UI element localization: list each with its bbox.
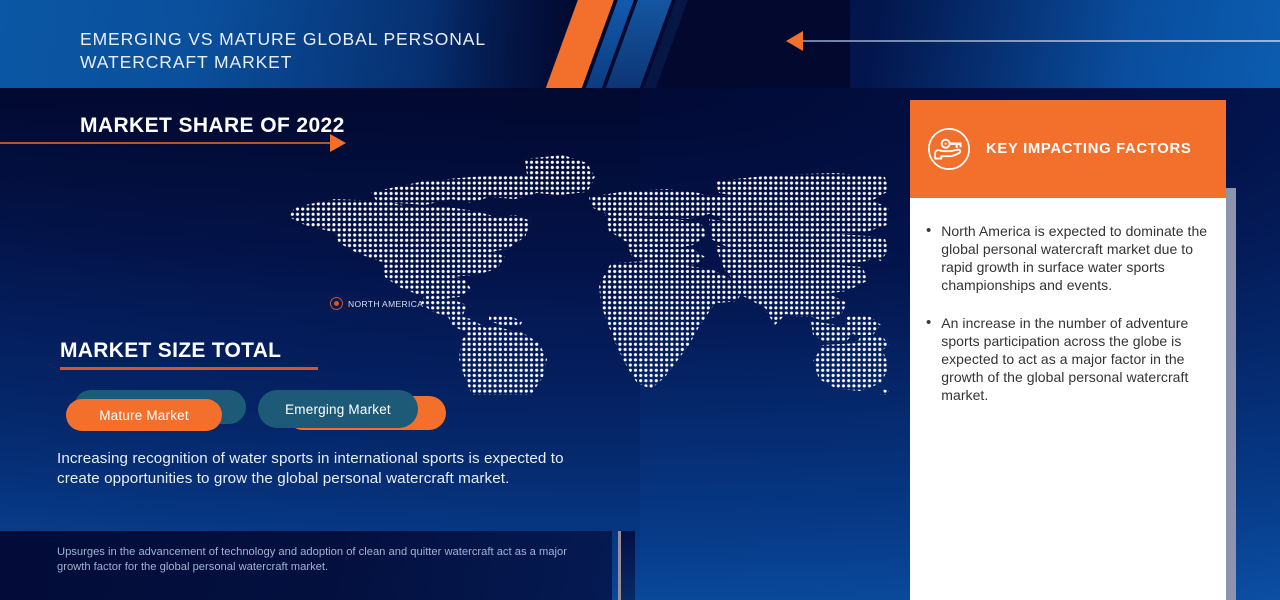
list-item-text: An increase in the number of adventure s… — [941, 314, 1216, 404]
header-arrow-line — [800, 40, 1280, 42]
map-region-label: NORTH AMERICA — [348, 299, 423, 309]
legend-emerging-label: Emerging Market — [285, 402, 391, 417]
list-item: • North America is expected to dominate … — [926, 222, 1216, 294]
legend-mature-label-pill[interactable]: Mature Market — [66, 399, 222, 431]
list-item: • An increase in the number of adventure… — [926, 314, 1216, 404]
legend-item-mature-market[interactable]: Mature Market — [66, 390, 246, 440]
list-item-text: North America is expected to dominate th… — [941, 222, 1216, 294]
key-factors-list: • North America is expected to dominate … — [926, 222, 1216, 424]
bottom-note-text: Upsurges in the advancement of technolog… — [57, 545, 577, 575]
legend-mature-label: Mature Market — [99, 408, 189, 423]
market-size-underline — [60, 367, 318, 370]
market-share-title: MARKET SHARE OF 2022 — [80, 114, 345, 138]
location-ring-icon — [330, 297, 343, 310]
arrow-left-icon — [786, 31, 803, 51]
lead-paragraph: Increasing recognition of water sports i… — [57, 449, 597, 489]
legend-item-emerging-market[interactable]: Emerging Market — [258, 390, 442, 440]
legend-emerging-label-pill[interactable]: Emerging Market — [258, 390, 418, 428]
market-share-arrow-line — [0, 142, 332, 144]
market-size-title: MARKET SIZE TOTAL — [60, 339, 281, 363]
bullet-icon: • — [926, 222, 931, 294]
key-factors-header: KEY IMPACTING FACTORS — [910, 100, 1226, 198]
bottom-note-tail — [621, 531, 635, 600]
panel-drop-shadow — [1226, 188, 1236, 600]
hand-key-icon — [926, 126, 972, 172]
bottom-note-separator — [618, 531, 621, 600]
key-factors-title: KEY IMPACTING FACTORS — [986, 141, 1191, 157]
infographic-slide: EMERGING VS MATURE GLOBAL PERSONAL WATER… — [0, 0, 1280, 600]
page-title: EMERGING VS MATURE GLOBAL PERSONAL WATER… — [80, 28, 560, 74]
world-map — [275, 145, 890, 395]
bullet-icon: • — [926, 314, 931, 404]
